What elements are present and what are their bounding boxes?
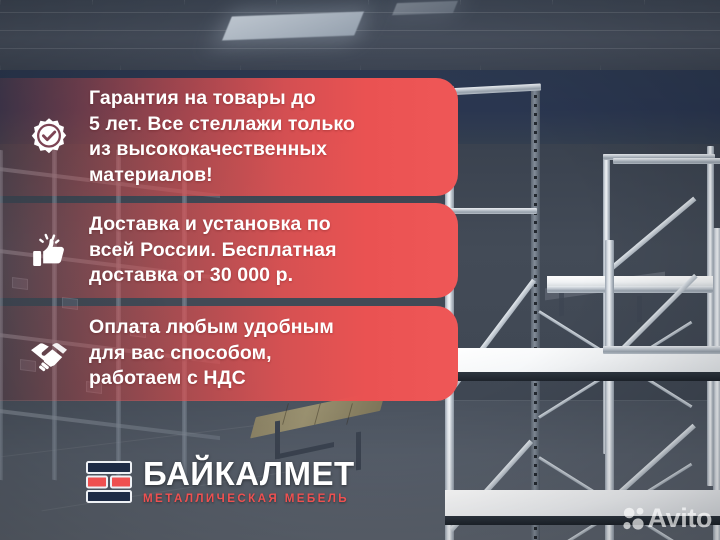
logo-name: БАЙКАЛМЕТ — [143, 458, 355, 489]
avito-wordmark: Avito — [648, 505, 713, 532]
avito-watermark: Avito — [623, 505, 713, 532]
logo-tagline: МЕТАЛЛИЧЕСКАЯ МЕБЕЛЬ — [143, 491, 355, 506]
brand-logo: БАЙКАЛМЕТ МЕТАЛЛИЧЕСКАЯ МЕБЕЛЬ — [86, 458, 355, 506]
info-banner-warranty: Гарантия на товары до 5 лет. Все стеллаж… — [0, 78, 458, 196]
promo-image: Гарантия на товары до 5 лет. Все стеллаж… — [0, 0, 720, 540]
ceiling-light-panel-2 — [392, 1, 458, 15]
banner-text: Гарантия на товары до 5 лет. Все стеллаж… — [89, 86, 355, 188]
info-banner-delivery: Доставка и установка по всей России. Бес… — [0, 203, 458, 298]
banner-text: Доставка и установка по всей России. Бес… — [89, 212, 337, 289]
info-banner-payment: Оплата любым удобным для вас способом, р… — [0, 306, 458, 401]
wooden-bench — [253, 404, 383, 454]
banner-text: Оплата любым удобным для вас способом, р… — [89, 315, 334, 392]
avito-dots-icon — [623, 507, 645, 531]
thumbs-up-icon — [26, 228, 72, 274]
certificate-badge-check-icon — [26, 114, 72, 160]
handshake-icon — [26, 331, 72, 377]
steel-shelving-rack — [455, 58, 720, 540]
stacked-bars-logo-icon — [86, 461, 132, 503]
